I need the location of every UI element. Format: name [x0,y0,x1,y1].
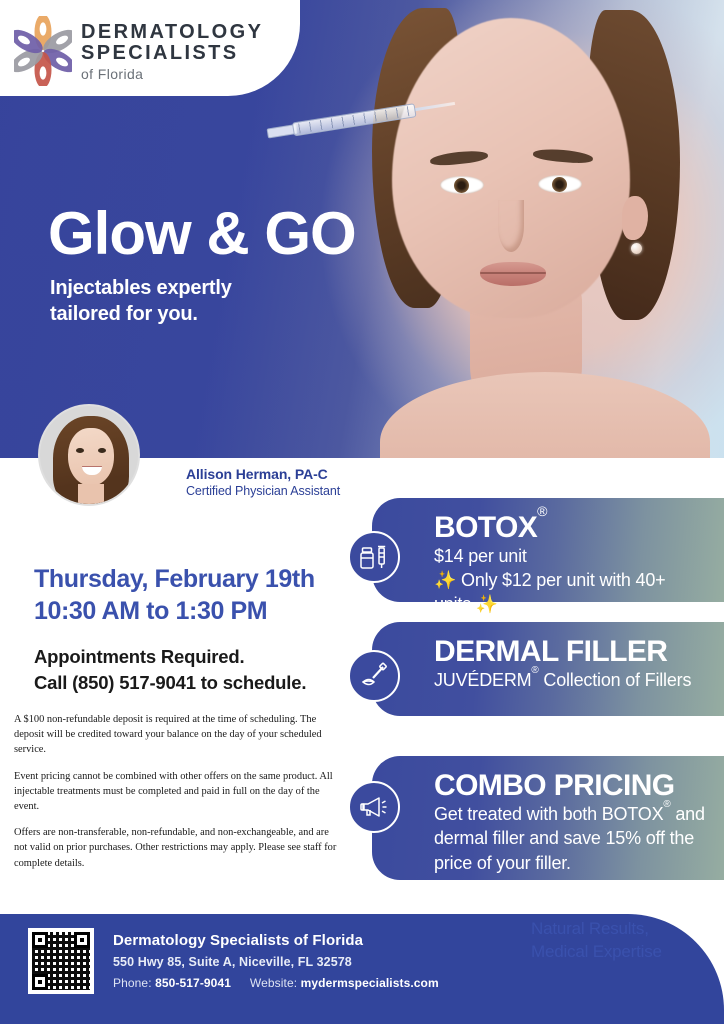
provider-role: Certified Physician Assistant [186,484,340,498]
brand-logo-text: DERMATOLOGY SPECIALISTS of Florida [81,20,263,82]
hero-subhead-line-2: tailored for you. [50,302,232,328]
offer-title-botox: BOTOX® [434,512,706,544]
provider-avatar [38,404,140,506]
brand-logo: DERMATOLOGY SPECIALISTS of Florida [14,16,263,86]
offer-panel-combo: COMBO PRICING Get treated with both BOTO… [372,756,724,880]
sparkle-icon-right: ✨ [476,594,498,614]
tagline-line-2: Medical Expertise [531,941,662,964]
model-iris-left [454,178,469,193]
model-shoulder [380,372,710,458]
event-time: 10:30 AM to 1:30 PM [34,595,315,627]
footer-address: 550 Hwy 85, Suite A, Niceville, FL 32578 [113,955,352,969]
logo-line-1: DERMATOLOGY [81,22,263,42]
logo-line-3: of Florida [81,66,263,82]
event-date: Thursday, February 19th [34,563,315,595]
disclaimer-2: Event pricing cannot be combined with ot… [14,769,344,815]
phone-label: Phone: [113,976,152,990]
offer-title-filler: DERMAL FILLER [434,636,706,668]
flyer-page: DERMATOLOGY SPECIALISTS of Florida Glow … [0,0,724,1024]
offer-filler-brand: JUVÉDERM® Collection of Fillers [434,669,706,692]
flower-petal-logo-icon [14,16,72,86]
website-label: Website: [250,976,297,990]
lips-syringe-icon [348,650,400,702]
offer-combo-line-1: Get treated with both BOTOX® and [434,803,706,826]
disclaimer-3: Offers are non-transferable, non-refunda… [14,825,344,871]
offer-combo-line-3: price of your filler. [434,852,706,875]
website-url[interactable]: mydermspecialists.com [301,976,439,990]
vial-syringe-icon [348,531,400,583]
model-lips [480,262,546,286]
provider-name: Allison Herman, PA-C [186,466,328,482]
hero-subhead-line-1: Injectables expertly [50,276,232,302]
hero-subhead: Injectables expertly tailored for you. [50,276,232,327]
offer-combo-line-2: dermal filler and save 15% off the [434,827,706,850]
brand-tagline: Natural Results, Medical Expertise [531,918,662,964]
footer-practice-name: Dermatology Specialists of Florida [113,932,363,949]
footer-contact: Phone: 850-517-9041 Website: mydermspeci… [113,976,439,990]
offer-botox-bulk: ✨ Only $12 per unit with 40+ units ✨ [434,569,706,616]
offer-panel-botox: BOTOX® $14 per unit ✨ Only $12 per unit … [372,498,724,602]
phone-number[interactable]: 850-517-9041 [155,976,231,990]
qr-code[interactable] [28,928,94,994]
offer-title-combo: COMBO PRICING [434,770,706,802]
appointment-callout: Appointments Required. Call (850) 517-90… [34,644,306,695]
logo-line-2: SPECIALISTS [81,43,263,63]
page-title: Glow & GO [48,204,356,264]
event-datetime: Thursday, February 19th 10:30 AM to 1:30… [34,563,315,627]
model-nose [498,200,524,252]
tagline-line-1: Natural Results, [531,918,662,941]
call-to-schedule: Call (850) 517-9041 to schedule. [34,670,306,696]
model-lip-line [480,272,546,274]
disclaimer-text: A $100 non-refundable deposit is require… [14,712,344,882]
disclaimer-1: A $100 non-refundable deposit is require… [14,712,344,758]
model-iris-right [552,177,567,192]
megaphone-icon [348,781,400,833]
sparkle-icon-left: ✨ [434,570,456,590]
offer-panel-filler: DERMAL FILLER JUVÉDERM® Collection of Fi… [372,622,724,716]
model-earring [631,243,642,254]
appointments-required: Appointments Required. [34,644,306,670]
offer-botox-price: $14 per unit [434,545,706,568]
